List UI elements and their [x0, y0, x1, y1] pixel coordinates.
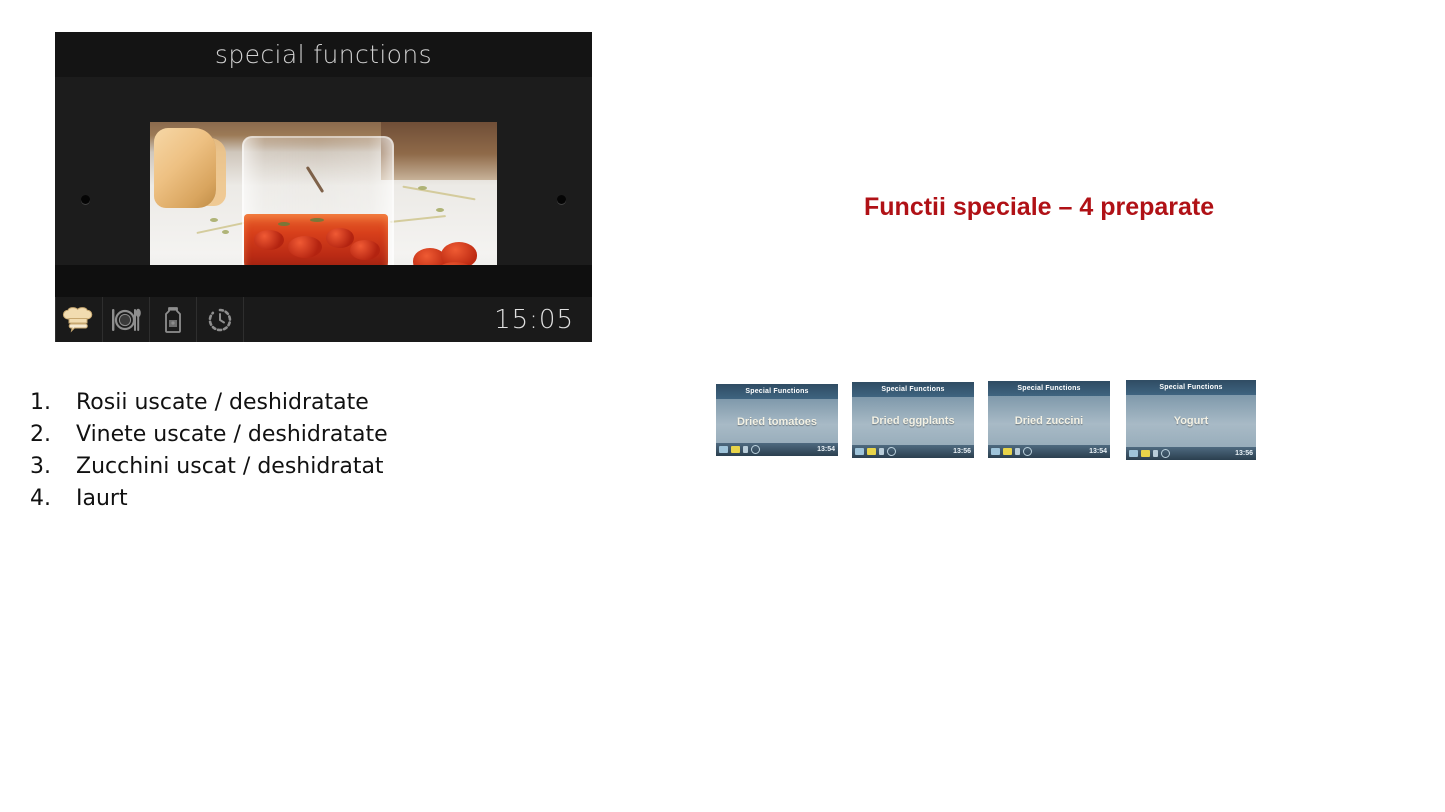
page-title: Functii speciale – 4 preparate — [864, 193, 1214, 222]
thumbnail-clock: 13:54 — [1089, 448, 1107, 455]
thumbnail-clock: 13:54 — [817, 446, 835, 453]
dial-timer-icon[interactable] — [197, 297, 244, 342]
thumbnail-header-label: Special Functions — [1017, 385, 1080, 392]
jar-preserve-icon[interactable] — [150, 297, 197, 342]
timer-icon — [1023, 447, 1032, 456]
thumbnail-dried-eggplants[interactable]: Special Functions Dried eggplants 13:56 — [852, 382, 974, 458]
list-item: 2. Vinete uscate / deshidratate — [30, 422, 550, 454]
panel-screw-left-icon — [81, 195, 90, 204]
thumbnail-label: Yogurt — [1126, 415, 1256, 427]
thumbnail-yogurt[interactable]: Special Functions Yogurt 13:56 — [1126, 380, 1256, 460]
oven-display-panel: special functions — [55, 32, 592, 342]
wifi-icon — [719, 446, 728, 453]
list-item-label: Iaurt — [76, 486, 550, 511]
thumbnail-screen: Dried zuccini 13:54 — [988, 396, 1110, 458]
thumbnail-header-label: Special Functions — [881, 386, 944, 393]
thumbnail-label: Dried eggplants — [852, 415, 974, 427]
wifi-icon — [991, 448, 1000, 455]
thumbnail-label: Dried tomatoes — [716, 416, 838, 428]
oven-title-text: special functions — [215, 40, 432, 69]
list-item: 3. Zucchini uscat / deshidratat — [30, 454, 550, 486]
lock-icon — [879, 448, 884, 455]
list-item-label: Rosii uscate / deshidratate — [76, 390, 550, 415]
thumbnail-header-label: Special Functions — [745, 388, 808, 395]
thumbnail-label: Dried zuccini — [988, 415, 1110, 427]
thumbnail-status-bar: 13:56 — [852, 445, 974, 458]
thumbnail-status-bar: 13:56 — [1126, 447, 1256, 460]
wifi-icon — [855, 448, 864, 455]
chef-hat-icon[interactable] — [55, 297, 103, 342]
oven-display-body — [55, 77, 592, 265]
oven-display-divider — [55, 265, 592, 297]
list-item-label: Vinete uscate / deshidratate — [76, 422, 550, 447]
list-item-number: 2. — [30, 422, 76, 447]
meat-probe-icon — [1141, 450, 1150, 457]
thumbnail-screen: Yogurt 13:56 — [1126, 395, 1256, 460]
plate-cutlery-icon[interactable] — [103, 297, 150, 342]
thumbnail-header: Special Functions — [988, 381, 1110, 396]
thumbnail-dried-zuccini[interactable]: Special Functions Dried zuccini 13:54 — [988, 381, 1110, 458]
panel-screw-right-icon — [557, 195, 566, 204]
wifi-icon — [1129, 450, 1138, 457]
list-item-number: 3. — [30, 454, 76, 479]
timer-icon — [887, 447, 896, 456]
timer-icon — [1161, 449, 1170, 458]
list-item: 4. Iaurt — [30, 486, 550, 518]
thumbnail-screen: Dried eggplants 13:56 — [852, 397, 974, 458]
meat-probe-icon — [731, 446, 740, 453]
thumbnail-strip: Special Functions Dried tomatoes 13:54 S… — [716, 380, 1261, 460]
list-item-number: 4. — [30, 486, 76, 511]
thumbnail-dried-tomatoes[interactable]: Special Functions Dried tomatoes 13:54 — [716, 384, 838, 456]
thumbnail-header: Special Functions — [716, 384, 838, 399]
list-item-label: Zucchini uscat / deshidratat — [76, 454, 550, 479]
thumbnail-screen: Dried tomatoes 13:54 — [716, 399, 838, 456]
meat-probe-icon — [1003, 448, 1012, 455]
thumbnail-status-bar: 13:54 — [716, 443, 838, 456]
thumbnail-header: Special Functions — [1126, 380, 1256, 395]
thumbnail-clock: 13:56 — [953, 448, 971, 455]
lock-icon — [743, 446, 748, 453]
oven-clock: 15:05 — [494, 305, 574, 335]
oven-icon-bar: 15:05 — [55, 297, 592, 342]
thumbnail-header: Special Functions — [852, 382, 974, 397]
timer-icon — [751, 445, 760, 454]
meat-probe-icon — [867, 448, 876, 455]
oven-title-bar: special functions — [55, 32, 592, 77]
thumbnail-header-label: Special Functions — [1159, 384, 1222, 391]
list-item: 1. Rosii uscate / deshidratate — [30, 390, 550, 422]
list-item-number: 1. — [30, 390, 76, 415]
lock-icon — [1015, 448, 1020, 455]
thumbnail-status-bar: 13:54 — [988, 445, 1110, 458]
lock-icon — [1153, 450, 1158, 457]
thumbnail-clock: 13:56 — [1235, 450, 1253, 457]
numbered-list: 1. Rosii uscate / deshidratate 2. Vinete… — [30, 390, 550, 518]
